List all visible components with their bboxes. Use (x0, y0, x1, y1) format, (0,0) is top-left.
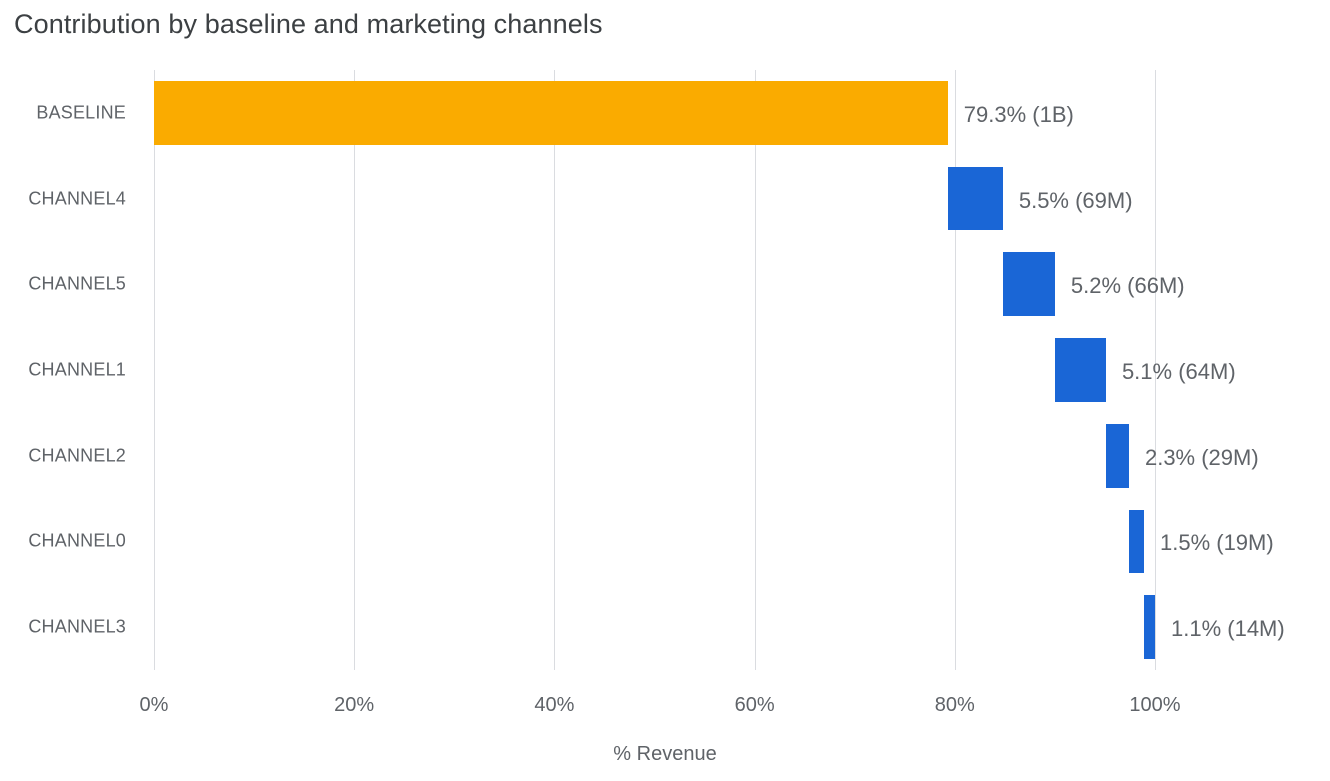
bar-value-label: 1.1% (14M) (1171, 618, 1285, 640)
bar-value-label: 1.5% (19M) (1160, 532, 1274, 554)
bar-row: 5.2% (66M) (154, 241, 1155, 327)
bar-channel1[interactable] (1055, 338, 1106, 402)
x-tick-label: 40% (534, 694, 574, 717)
x-tick-label: 20% (334, 694, 374, 717)
bar-row: 1.1% (14M) (154, 584, 1155, 670)
x-axis: 0%20%40%60%80%100% (154, 670, 1155, 730)
bar-channel0[interactable] (1129, 510, 1144, 574)
bar-channel4[interactable] (948, 167, 1003, 231)
x-axis-title: % Revenue (0, 743, 1330, 766)
y-tick-label-baseline: BASELINE (36, 102, 126, 123)
bar-value-label: 2.3% (29M) (1145, 447, 1259, 469)
y-tick-label-channel4: CHANNEL4 (28, 188, 126, 209)
y-tick-label-channel3: CHANNEL3 (28, 617, 126, 638)
bar-value-label: 5.5% (69M) (1019, 190, 1133, 212)
y-tick-label-channel1: CHANNEL1 (28, 360, 126, 381)
bar-baseline[interactable] (154, 81, 948, 145)
bar-channel2[interactable] (1106, 424, 1129, 488)
bar-row: 1.5% (19M) (154, 499, 1155, 585)
y-axis: BASELINECHANNEL4CHANNEL5CHANNEL1CHANNEL2… (0, 70, 140, 670)
bar-rows: 79.3% (1B)5.5% (69M)5.2% (66M)5.1% (64M)… (154, 70, 1155, 670)
bar-row: 5.5% (69M) (154, 156, 1155, 242)
plot-area: 79.3% (1B)5.5% (69M)5.2% (66M)5.1% (64M)… (154, 70, 1155, 670)
bar-value-label: 5.2% (66M) (1071, 275, 1185, 297)
bar-row: 2.3% (29M) (154, 413, 1155, 499)
bar-row: 5.1% (64M) (154, 327, 1155, 413)
waterfall-chart: Contribution by baseline and marketing c… (0, 0, 1330, 781)
x-tick-label: 0% (140, 694, 169, 717)
bar-row: 79.3% (1B) (154, 70, 1155, 156)
chart-title: Contribution by baseline and marketing c… (14, 9, 603, 40)
y-tick-label-channel0: CHANNEL0 (28, 531, 126, 552)
y-tick-label-channel5: CHANNEL5 (28, 274, 126, 295)
bar-channel3[interactable] (1144, 595, 1155, 659)
bar-value-label: 5.1% (64M) (1122, 361, 1236, 383)
bar-channel5[interactable] (1003, 252, 1055, 316)
bar-value-label: 79.3% (1B) (964, 104, 1074, 126)
x-tick-label: 60% (735, 694, 775, 717)
y-tick-label-channel2: CHANNEL2 (28, 445, 126, 466)
x-tick-label: 100% (1129, 694, 1180, 717)
x-tick-label: 80% (935, 694, 975, 717)
